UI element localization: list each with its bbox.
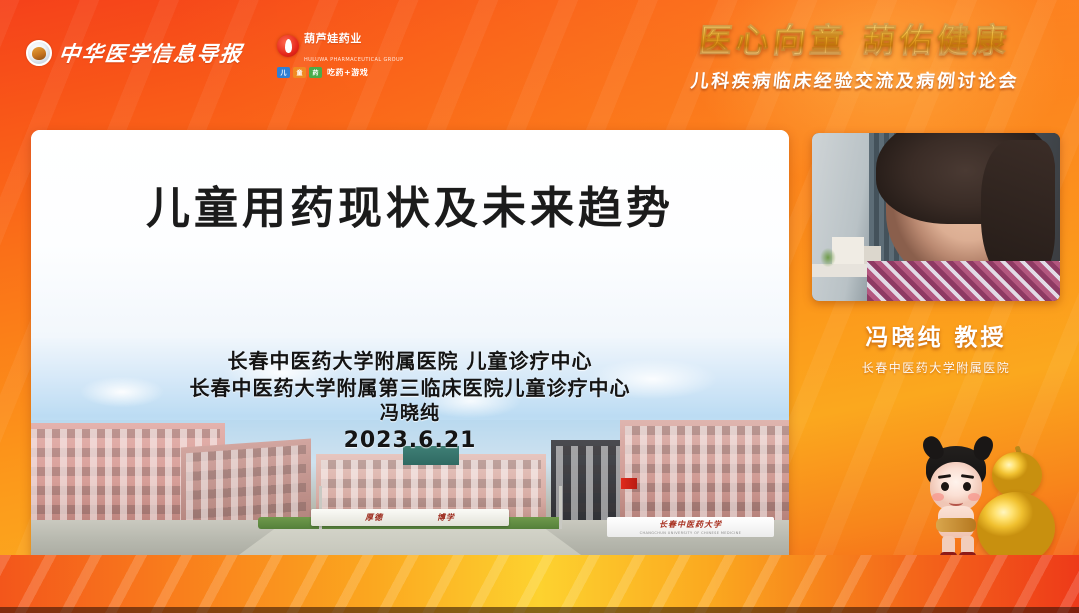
speaker-caption: 冯晓纯 教授 长春中医药大学附属医院: [812, 318, 1060, 376]
campus-gate-sign: 长春中医药大学 CHANGCHUN UNIVERSITY OF CHINESE …: [607, 517, 774, 537]
mascot-leaf-skirt: [936, 518, 976, 532]
slide-subtitle-block: 长春中医药大学附属医院 儿童诊疗中心 长春中医药大学附属第三临床医院儿童诊疗中心…: [31, 348, 789, 456]
logo-chip-3: 药: [309, 67, 322, 78]
logo-cma-journal-text: 中华医学信息导报: [57, 38, 245, 68]
bottom-decorative-band: [0, 555, 1079, 613]
mascot-boy-figure: [916, 444, 1000, 562]
slide-presenter-name: 冯晓纯: [31, 401, 789, 426]
logo-cma-journal: 中华医学信息导报: [26, 38, 243, 68]
slide-subtitle-line-1: 长春中医药大学附属医院 儿童诊疗中心: [31, 348, 789, 375]
logo-chip-1: 儿: [277, 67, 290, 78]
logo-huluwa-subtitle: HULUWA PHARMACEUTICAL GROUP: [304, 57, 404, 63]
presentation-slide[interactable]: 厚德 博学 长春中医药大学 CHANGCHUN UNIVERSITY OF CH…: [31, 130, 789, 563]
logo-chip-2: 童: [293, 67, 306, 78]
speaker-webcam-feed[interactable]: [812, 133, 1060, 301]
campus-flag-icon: [621, 478, 637, 489]
slide-date: 2023.6.21: [31, 426, 789, 455]
event-banner: 医心向童 葫佑健康 儿科疾病临床经验交流及病例讨论会: [655, 14, 1055, 93]
header-bar: 中华医学信息导报 葫芦娃药业 HULUWA PHARMACEUTICAL GRO…: [0, 0, 1079, 110]
logo-huluwa-tagline: 吃药+游戏: [327, 67, 368, 78]
event-slogan: 医心向童 葫佑健康: [652, 14, 1057, 62]
society-seal-icon: [26, 40, 52, 66]
webcam-plant: [817, 244, 839, 271]
mascot-face: [930, 462, 982, 512]
red-gourd-disc-icon: [277, 35, 299, 57]
gate-sign-name-en: CHANGCHUN UNIVERSITY OF CHINESE MEDICINE: [640, 531, 742, 535]
logo-huluwa-title: 葫芦娃药业: [304, 32, 362, 45]
stone-sign-left-text: 厚德: [365, 512, 383, 523]
broadcast-stage: 中华医学信息导报 葫芦娃药业 HULUWA PHARMACEUTICAL GRO…: [0, 0, 1079, 613]
speaker-organization: 长春中医药大学附属医院: [812, 359, 1060, 376]
gate-sign-name: 长春中医药大学: [659, 519, 722, 530]
campus-stone-sign: 厚德 博学: [311, 509, 508, 526]
logo-huluwa-pharma: 葫芦娃药业 HULUWA PHARMACEUTICAL GROUP 儿 童 药 …: [277, 27, 404, 78]
calabash-boy-mascot: [916, 434, 1062, 570]
stone-sign-right-text: 博学: [437, 512, 455, 523]
speaker-shirt: [867, 261, 1060, 301]
slide-title: 儿童用药现状及未来趋势: [31, 172, 789, 236]
speaker-name: 冯晓纯 教授: [812, 318, 1060, 352]
sponsor-logo-row: 中华医学信息导报 葫芦娃药业 HULUWA PHARMACEUTICAL GRO…: [26, 27, 404, 78]
event-subtitle: 儿科疾病临床经验交流及病例讨论会: [654, 67, 1057, 93]
slide-subtitle-line-2: 长春中医药大学附属第三临床医院儿童诊疗中心: [31, 375, 789, 402]
